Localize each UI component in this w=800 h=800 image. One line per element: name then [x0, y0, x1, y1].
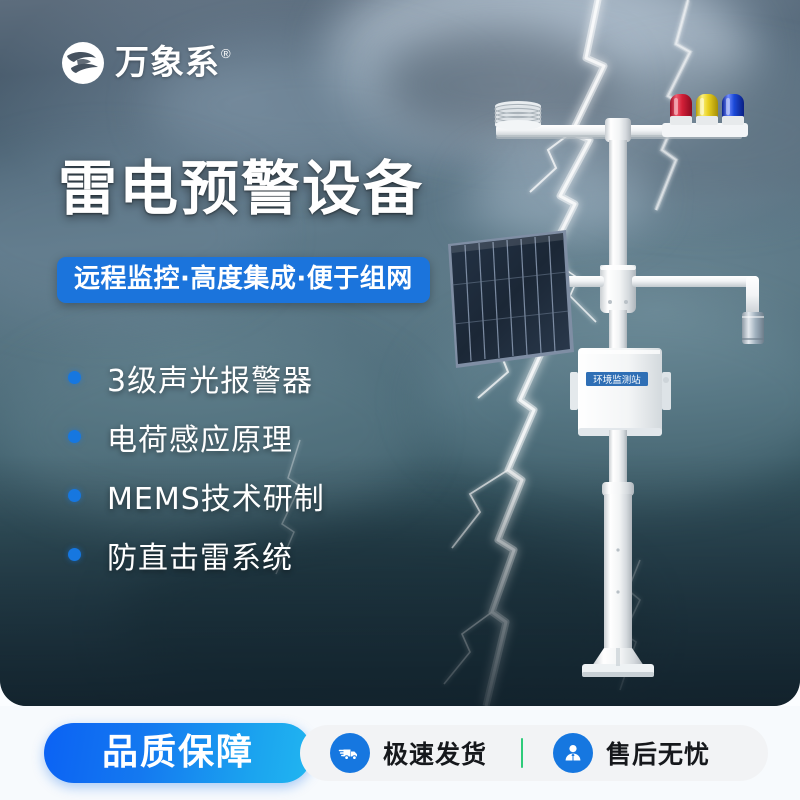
solar-panel: [448, 220, 574, 368]
page-title: 雷电预警设备: [58, 158, 424, 221]
dot-bullet-icon: [68, 489, 81, 502]
dot-bullet-icon: [68, 430, 81, 443]
wanxiangxi-circle-logo-icon: [60, 40, 106, 86]
feature-list: 3级声光报警器 电荷感应原理 MEMS技术研制 防直击雷系统: [68, 348, 325, 584]
hero-image: 环境监测站: [0, 0, 800, 706]
alarm-lamp-stack: [670, 94, 744, 125]
quality-guarantee-badge[interactable]: 品质保障: [44, 723, 312, 783]
list-item: 防直击雷系统: [68, 525, 325, 584]
radiation-shield-sensor: [495, 101, 541, 130]
list-item: 电荷感应原理: [68, 407, 325, 466]
customer-service-person-icon: [553, 733, 593, 773]
yellow-alarm-lamp: [696, 94, 718, 125]
feature-label: 防直击雷系统: [107, 533, 293, 577]
enclosure-label-text: 环境监测站: [593, 374, 641, 386]
dot-bullet-icon: [68, 371, 81, 384]
registered-mark: ®: [221, 46, 231, 61]
list-item: 3级声光报警器: [68, 348, 325, 407]
dot-bullet-icon: [68, 548, 81, 561]
quality-guarantee-label: 品质保障: [102, 735, 254, 771]
list-item: MEMS技术研制: [68, 466, 325, 525]
brand-logo: 万象系 ®: [60, 40, 231, 86]
feature-label: 电荷感应原理: [107, 415, 293, 459]
service-item-shipping[interactable]: 极速发货: [330, 733, 487, 773]
blue-alarm-lamp: [722, 94, 744, 125]
service-label-shipping: 极速发货: [383, 735, 487, 771]
brand-name: 万象系: [115, 46, 220, 80]
service-pill: 极速发货 售后无忧: [300, 725, 768, 781]
promo-page: 环境监测站: [0, 0, 800, 800]
service-item-aftersales[interactable]: 售后无忧: [553, 733, 710, 773]
base-flange: [582, 648, 654, 677]
delivery-truck-icon: [330, 733, 370, 773]
enclosure-box: 环境监测站: [570, 348, 671, 436]
service-label-aftersales: 售后无忧: [606, 735, 710, 771]
subtitle-badge: 远程监控·高度集成·便于组网: [57, 257, 430, 303]
sensor-probe: [742, 312, 764, 344]
feature-label: 3级声光报警器: [107, 356, 313, 400]
bottom-trust-bar: 品质保障 极速发货: [0, 706, 800, 800]
feature-label: MEMS技术研制: [107, 474, 325, 518]
red-alarm-lamp: [670, 94, 692, 125]
divider: [521, 738, 523, 768]
product-weather-station: 环境监测站: [430, 80, 800, 700]
